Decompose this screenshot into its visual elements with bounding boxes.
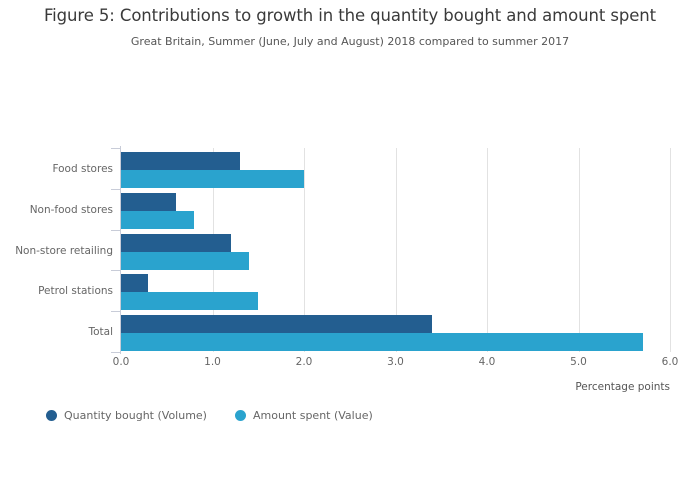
x-axis-tick-label: 2.0 <box>274 356 334 368</box>
legend-item-volume[interactable]: Quantity bought (Volume) <box>46 409 207 422</box>
bar-non-food-stores-value[interactable] <box>121 211 194 229</box>
y-axis-tick <box>111 148 121 149</box>
x-axis-tick-label: 5.0 <box>549 356 609 368</box>
bar-non-store-retailing-volume[interactable] <box>121 234 231 252</box>
bar-total-volume[interactable] <box>121 315 432 333</box>
x-axis-title: Percentage points <box>400 381 670 393</box>
bar-petrol-stations-value[interactable] <box>121 292 258 310</box>
chart-figure: Figure 5: Contributions to growth in the… <box>0 0 700 502</box>
gridline <box>670 148 671 352</box>
y-axis-tick <box>111 270 121 271</box>
x-axis-tick-label: 4.0 <box>457 356 517 368</box>
y-axis-label-total: Total <box>5 326 113 338</box>
bar-petrol-stations-volume[interactable] <box>121 274 148 292</box>
chart-subtitle: Great Britain, Summer (June, July and Au… <box>0 35 700 48</box>
y-axis-tick <box>111 352 121 353</box>
y-axis-labels: Food storesNon-food storesNon-store reta… <box>0 148 113 352</box>
chart-legend: Quantity bought (Volume)Amount spent (Va… <box>46 405 401 425</box>
x-axis-tick-label: 1.0 <box>183 356 243 368</box>
y-axis-label-non-food-stores: Non-food stores <box>5 204 113 216</box>
legend-item-value[interactable]: Amount spent (Value) <box>235 409 373 422</box>
bar-non-food-stores-volume[interactable] <box>121 193 176 211</box>
gridline <box>487 148 488 352</box>
bar-non-store-retailing-value[interactable] <box>121 252 249 270</box>
bar-food-stores-volume[interactable] <box>121 152 240 170</box>
y-axis-label-food-stores: Food stores <box>5 163 113 175</box>
legend-label: Amount spent (Value) <box>253 409 373 422</box>
x-axis-tick-label: 3.0 <box>366 356 426 368</box>
y-axis-tick <box>111 189 121 190</box>
chart-title: Figure 5: Contributions to growth in the… <box>0 6 700 25</box>
bar-food-stores-value[interactable] <box>121 170 304 188</box>
x-axis: 0.01.02.03.04.05.06.0 <box>0 352 700 376</box>
legend-label: Quantity bought (Volume) <box>64 409 207 422</box>
y-axis-tick <box>111 230 121 231</box>
legend-swatch-circle-icon <box>235 410 246 421</box>
plot-area <box>121 148 670 352</box>
bar-total-value[interactable] <box>121 333 643 351</box>
legend-swatch-circle-icon <box>46 410 57 421</box>
y-axis-tick <box>111 311 121 312</box>
x-axis-tick-label: 0.0 <box>91 356 151 368</box>
y-axis-label-petrol-stations: Petrol stations <box>5 285 113 297</box>
y-axis-label-non-store-retailing: Non-store retailing <box>5 245 113 257</box>
gridline <box>579 148 580 352</box>
x-axis-tick-label: 6.0 <box>640 356 700 368</box>
